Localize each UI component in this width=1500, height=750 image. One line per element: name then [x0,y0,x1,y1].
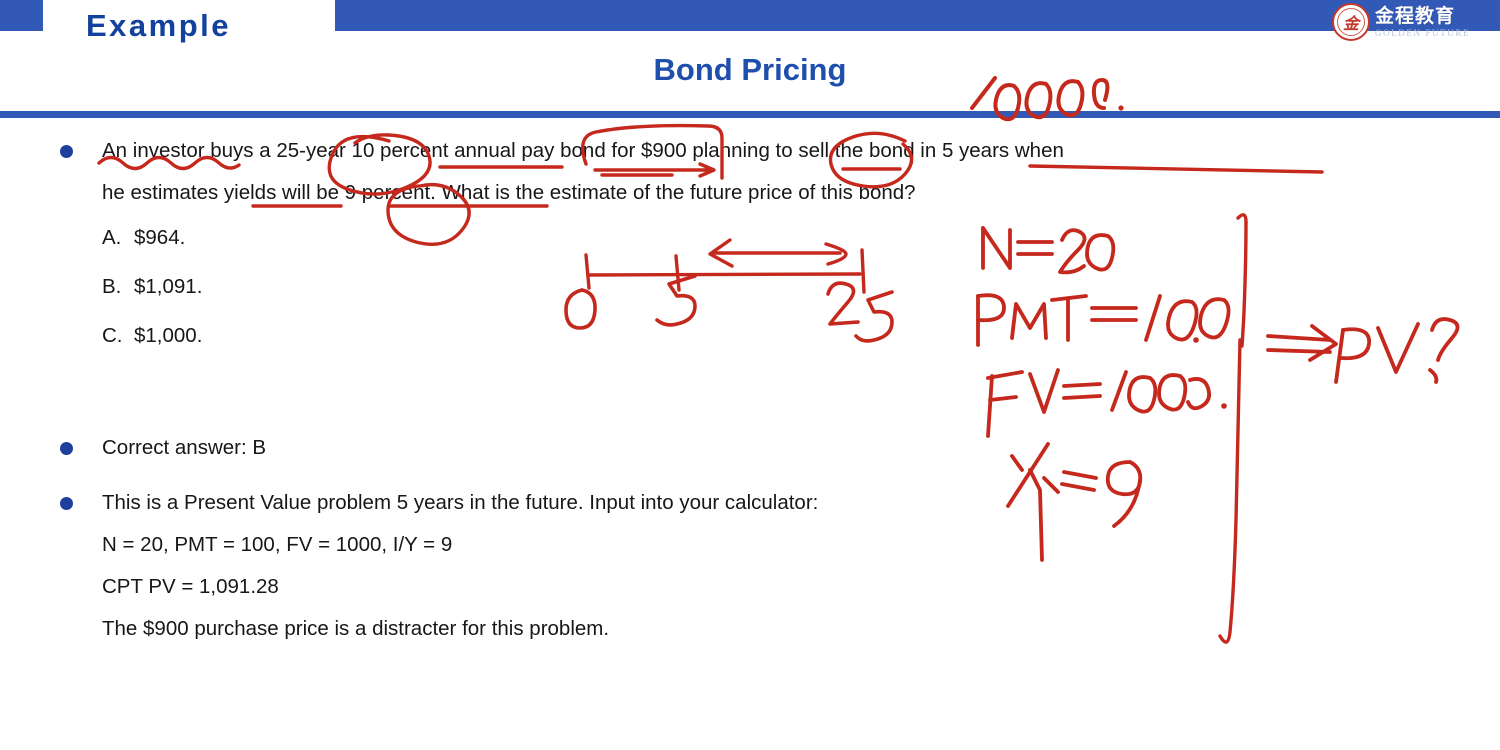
ink-underline-sell [1030,166,1322,172]
choice-item-a[interactable]: A.$964. [0,223,1500,272]
explanation-inputs: N = 20, PMT = 100, FV = 1000, I/Y = 9 [0,530,1500,572]
logo-seal-icon: 金 [1332,3,1370,41]
ink-calc-fv [988,370,1227,436]
explanation-bullet: This is a Present Value problem 5 years … [0,488,1500,530]
bullet-dot-icon [60,497,73,510]
logo-chinese-name: 金程教育 [1375,7,1470,26]
logo-english-name: GOLDEN FUTURE [1375,29,1470,38]
choice-letter-a: A. [102,223,134,253]
header-accent-block-right [335,0,1500,31]
header-divider-rule [0,111,1500,118]
question-line-2-row: he estimates yields will be 9 percent. W… [0,178,1500,207]
question-line-1-row: An investor buys a 25-year 10 percent an… [0,136,1500,165]
slide-label: Example [86,8,231,44]
choice-item-c[interactable]: C.$1,000. [0,321,1500,370]
ink-underline-annualpay [595,164,714,176]
choice-letter-b: B. [102,272,134,302]
question-line-2: he estimates yields will be 9 percent. W… [0,178,1500,207]
logo-seal-glyph: 金 [1343,10,1359,34]
slide-canvas: Example 金 金程教育 GOLDEN FUTURE Bond Pricin… [0,0,1500,750]
choice-item-b[interactable]: B.$1,091. [0,272,1500,321]
explanation-result: CPT PV = 1,091.28 [0,572,1500,614]
choice-list: A.$964. B.$1,091. C.$1,000. [0,223,1500,370]
header-accent-block-left [0,0,43,31]
correct-answer-label: Correct answer: B [102,436,266,459]
brand-logo: 金 金程教育 GOLDEN FUTURE [1332,2,1494,42]
bullet-dot-icon [60,442,73,455]
explanation-intro: This is a Present Value problem 5 years … [102,491,818,514]
bullet-dot-icon [60,145,73,158]
choice-letter-c: C. [102,321,134,351]
question-line-1: An investor buys a 25-year 10 percent an… [102,139,1064,162]
page-title: Bond Pricing [0,52,1500,88]
question-bullet: An investor buys a 25-year 10 percent an… [0,136,1500,165]
choice-text-c: $1,000. [134,324,202,347]
explanation-note: The $900 purchase price is a distracter … [0,614,1500,656]
choice-text-b: $1,091. [134,275,202,298]
logo-wordmark: 金程教育 GOLDEN FUTURE [1375,7,1470,38]
explanation-block: This is a Present Value problem 5 years … [0,488,1500,656]
choice-text-a: $964. [134,226,185,249]
answer-row: Correct answer: B [0,433,1500,462]
answer-bullet: Correct answer: B [0,433,1500,462]
